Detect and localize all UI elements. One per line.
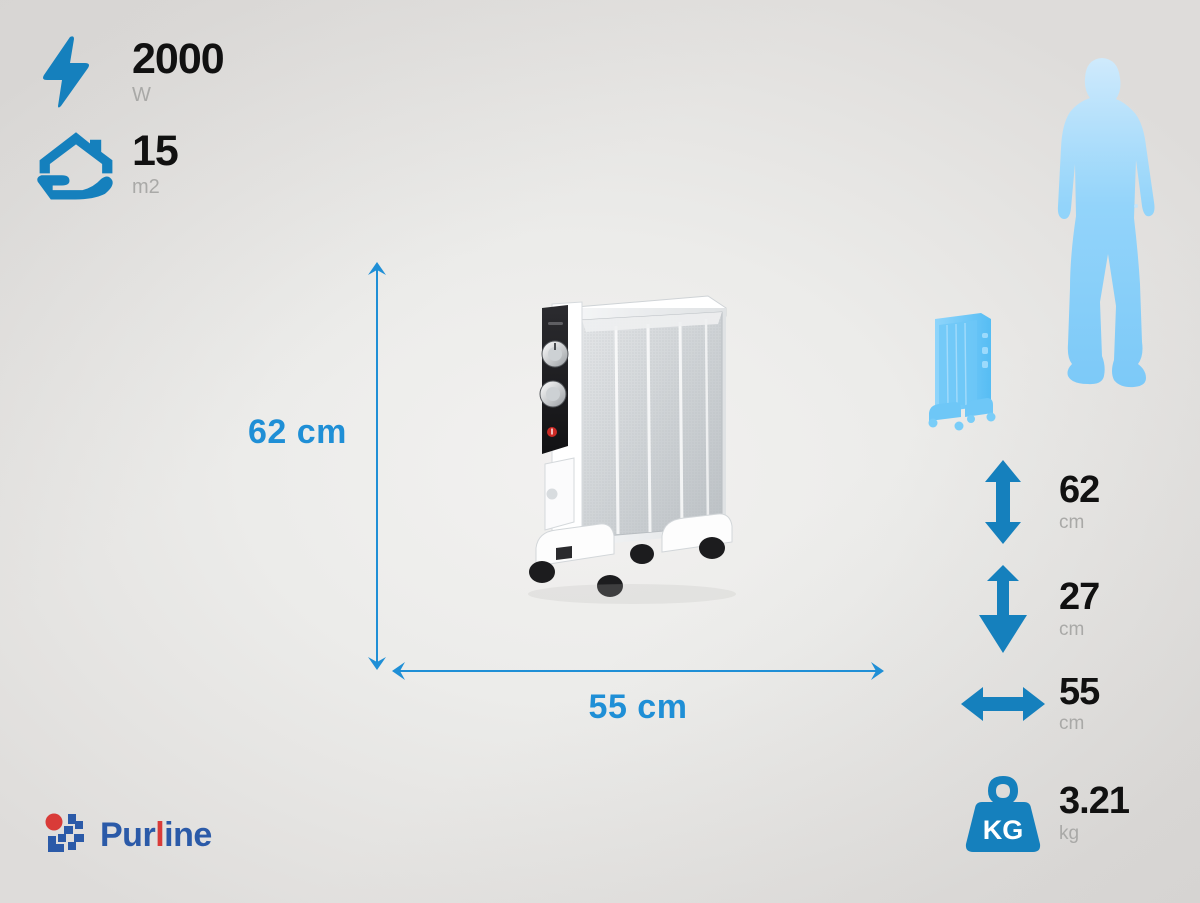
right-spec-text-weight: 3.21 kg xyxy=(1059,783,1129,842)
arrow-head-left xyxy=(392,660,406,682)
weight-kg-icon: KG xyxy=(955,772,1051,854)
spec-row-area: 15 m2 xyxy=(34,118,224,210)
right-spec-unit-weight: kg xyxy=(1059,824,1129,843)
lightning-bolt-icon xyxy=(34,35,118,109)
brand-word-accent: l xyxy=(155,816,164,855)
right-spec-height: 62 cm xyxy=(955,460,1099,544)
brand-word-part1: Pur xyxy=(100,816,155,855)
right-spec-value-depth: 27 xyxy=(1059,579,1099,615)
right-spec-text-depth: 27 cm xyxy=(1059,579,1099,638)
top-spec-list: 2000 W 15 m2 xyxy=(34,26,224,210)
spec-text-power: 2000 W xyxy=(132,39,224,105)
spec-text-area: 15 m2 xyxy=(132,131,178,197)
right-spec-unit-height: cm xyxy=(1059,513,1099,532)
weight-badge-text: KG xyxy=(983,815,1024,845)
height-dimension-label: 62 cm xyxy=(248,413,347,452)
arrow-head-down xyxy=(366,656,388,670)
spec-row-power: 2000 W xyxy=(34,26,224,118)
right-spec-text-height: 62 cm xyxy=(1059,472,1099,531)
heater-silhouette xyxy=(925,307,1003,432)
house-in-hand-icon xyxy=(34,126,118,202)
right-spec-weight: KG 3.21 kg xyxy=(955,772,1129,854)
arrow-head-up xyxy=(366,262,388,276)
height-dimension-arrow xyxy=(366,262,388,670)
arrow-head-right xyxy=(870,660,884,682)
brand-wordmark: Purline xyxy=(100,816,212,855)
person-silhouette xyxy=(1040,56,1170,406)
arrow-up-down-icon xyxy=(955,460,1051,544)
width-dimension-label: 55 cm xyxy=(392,688,884,727)
right-spec-depth: 27 cm xyxy=(955,565,1099,653)
spec-unit-area: m2 xyxy=(132,177,178,197)
arrow-left-right-icon xyxy=(955,684,1051,724)
product-image-heater xyxy=(512,286,748,606)
right-spec-value-height: 62 xyxy=(1059,472,1099,508)
purline-figure-mark-icon xyxy=(42,812,88,859)
right-spec-unit-width: cm xyxy=(1059,714,1099,733)
spec-value-power: 2000 xyxy=(132,39,224,80)
arrow-shaft-horizontal xyxy=(400,670,876,672)
right-spec-text-width: 55 cm xyxy=(1059,674,1099,733)
infographic-canvas: 2000 W 15 m2 62 cm xyxy=(0,0,1200,903)
width-dimension-arrow xyxy=(392,660,884,682)
arrow-shaft-vertical xyxy=(376,270,378,662)
brand-word-part2: ine xyxy=(164,816,212,855)
right-spec-width: 55 cm xyxy=(955,674,1099,733)
right-spec-value-width: 55 xyxy=(1059,674,1099,710)
right-spec-value-weight: 3.21 xyxy=(1059,783,1129,819)
arrow-depth-icon xyxy=(955,565,1051,653)
spec-unit-power: W xyxy=(132,85,224,105)
right-spec-unit-depth: cm xyxy=(1059,620,1099,639)
spec-value-area: 15 xyxy=(132,131,178,172)
brand-logo: Purline xyxy=(42,812,212,859)
